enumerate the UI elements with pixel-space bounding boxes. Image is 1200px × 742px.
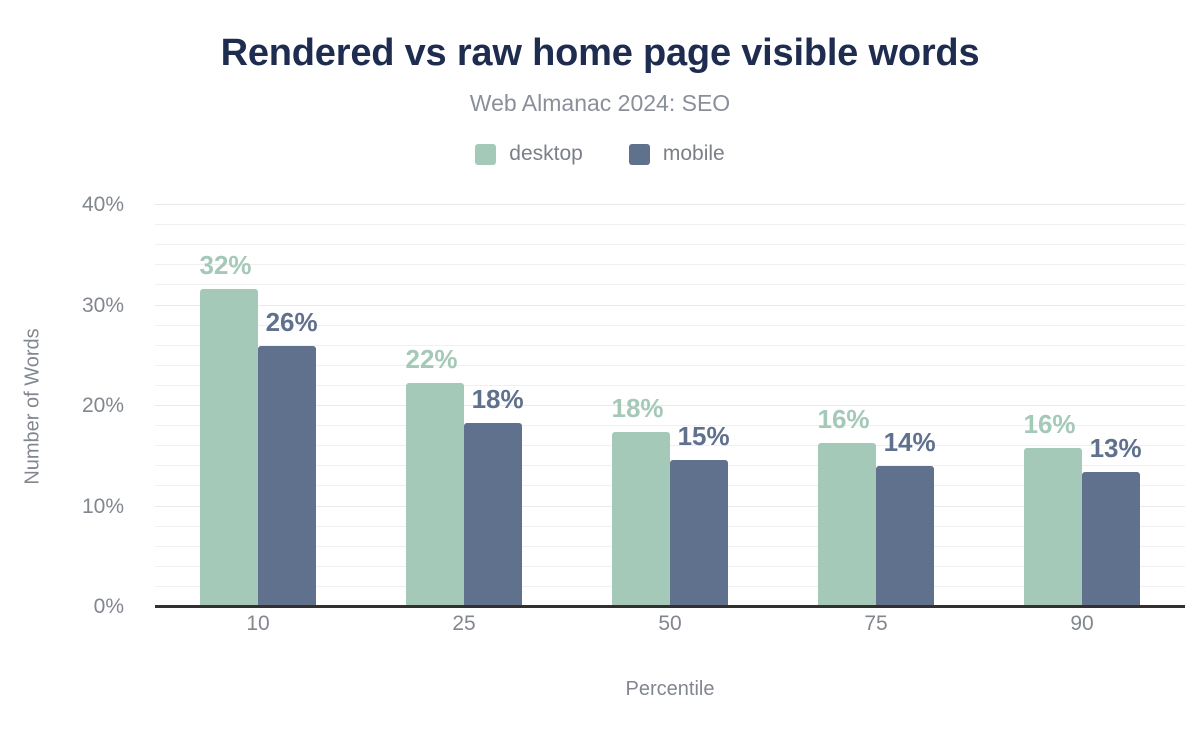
chart-legend: desktop mobile (0, 142, 1200, 166)
bar-rect[interactable] (464, 423, 522, 607)
bar-rect[interactable] (876, 466, 934, 607)
legend-item-desktop[interactable]: desktop (475, 142, 583, 166)
bar-group: 32%26% (155, 205, 361, 607)
legend-swatch-desktop (475, 144, 496, 165)
x-axis-title: Percentile (155, 678, 1185, 701)
bar-mobile-25[interactable]: 18% (464, 205, 522, 607)
chart-subtitle: Web Almanac 2024: SEO (0, 90, 1200, 117)
y-axis-tick-label: 0% (94, 595, 124, 619)
legend-label-mobile: mobile (663, 142, 725, 166)
bar-group: 16%13% (979, 205, 1185, 607)
x-axis-tick-label: 25 (361, 612, 567, 636)
bar-desktop-75[interactable]: 16% (818, 205, 876, 607)
bar-mobile-50[interactable]: 15% (670, 205, 728, 607)
x-axis-tick-label: 50 (567, 612, 773, 636)
bar-mobile-90[interactable]: 13% (1082, 205, 1140, 607)
legend-item-mobile[interactable]: mobile (629, 142, 725, 166)
bar-value-label: 22% (405, 344, 457, 375)
y-axis-tick-label: 10% (82, 495, 124, 519)
bar-value-label: 18% (611, 393, 663, 424)
chart-title: Rendered vs raw home page visible words (0, 32, 1200, 75)
x-axis-tick-label: 10 (155, 612, 361, 636)
bar-desktop-90[interactable]: 16% (1024, 205, 1082, 607)
x-axis-ticks: 1025507590 (155, 612, 1185, 636)
bar-desktop-10[interactable]: 32% (200, 205, 258, 607)
bar-group: 16%14% (773, 205, 979, 607)
bar-value-label: 16% (817, 404, 869, 435)
bar-desktop-50[interactable]: 18% (612, 205, 670, 607)
bar-rect[interactable] (258, 346, 316, 607)
bar-groups: 32%26%22%18%18%15%16%14%16%13% (155, 205, 1185, 607)
bar-value-label: 18% (472, 384, 524, 415)
legend-swatch-mobile (629, 144, 650, 165)
bar-rect[interactable] (612, 432, 670, 607)
bar-rect[interactable] (670, 460, 728, 607)
bar-value-label: 32% (199, 250, 251, 281)
bar-mobile-75[interactable]: 14% (876, 205, 934, 607)
y-axis-tick-label: 40% (82, 193, 124, 217)
bar-group: 18%15% (567, 205, 773, 607)
bar-rect[interactable] (200, 289, 258, 607)
bar-rect[interactable] (406, 383, 464, 607)
x-axis-line (155, 605, 1185, 608)
bar-value-label: 26% (266, 307, 318, 338)
bar-rect[interactable] (818, 443, 876, 607)
plot-area: 32%26%22%18%18%15%16%14%16%13% (155, 205, 1185, 607)
y-axis-tick-label: 30% (82, 294, 124, 318)
bar-rect[interactable] (1024, 448, 1082, 607)
bar-value-label: 15% (678, 421, 730, 452)
x-axis-tick-label: 90 (979, 612, 1185, 636)
bar-rect[interactable] (1082, 472, 1140, 607)
x-axis-tick-label: 75 (773, 612, 979, 636)
legend-label-desktop: desktop (509, 142, 583, 166)
bar-desktop-25[interactable]: 22% (406, 205, 464, 607)
bar-value-label: 13% (1090, 433, 1142, 464)
bar-group: 22%18% (361, 205, 567, 607)
bar-value-label: 14% (884, 427, 936, 458)
y-axis-ticks: 0%10%20%30%40% (0, 205, 140, 607)
bar-value-label: 16% (1023, 409, 1075, 440)
bar-mobile-10[interactable]: 26% (258, 205, 316, 607)
y-axis-tick-label: 20% (82, 394, 124, 418)
chart-container: Rendered vs raw home page visible words … (0, 0, 1200, 742)
